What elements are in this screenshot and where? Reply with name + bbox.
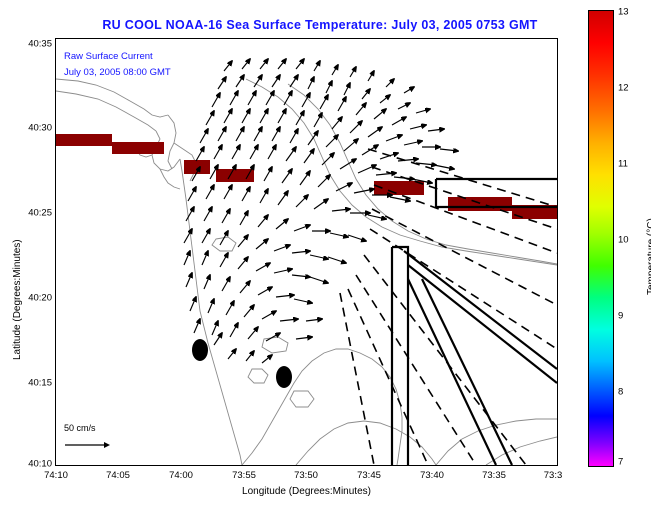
xtick-2: 74:00 xyxy=(169,470,193,481)
xtick-6: 73:40 xyxy=(420,470,444,481)
ytick-2: 40:25 xyxy=(14,208,52,219)
ytick-1: 40:30 xyxy=(14,123,52,134)
xtick-0: 74:10 xyxy=(44,470,68,481)
cbtick-6: 7 xyxy=(618,457,623,468)
ytick-5: 40:10 xyxy=(14,459,52,470)
xtick-7: 73:35 xyxy=(482,470,506,481)
radar-beam-lines-dashed xyxy=(340,149,557,465)
colorbar xyxy=(588,10,614,467)
surface-current-vectors xyxy=(184,59,458,363)
xtick-4: 73:50 xyxy=(294,470,318,481)
cbtick-0: 13 xyxy=(618,7,629,18)
chart-title: RU COOL NOAA-16 Sea Surface Temperature:… xyxy=(70,18,570,32)
map-svg xyxy=(56,39,557,465)
scalebar-label: 50 cm/s xyxy=(64,423,96,433)
annotation-timestamp: July 03, 2005 08:00 GMT xyxy=(64,67,171,78)
cbtick-5: 8 xyxy=(618,387,623,398)
y-axis-label: Latitude (Degrees:Minutes) xyxy=(12,239,23,360)
coastline-and-bathymetry xyxy=(56,79,557,465)
ytick-0: 40:35 xyxy=(14,39,52,50)
annotation-raw-surface-current: Raw Surface Current xyxy=(64,51,153,62)
colorbar-label: Temperature (°C) xyxy=(646,218,651,295)
black-marker-blobs xyxy=(192,339,292,388)
x-axis-label: Longitude (Degrees:Minutes) xyxy=(55,486,558,497)
xtick-3: 73:55 xyxy=(232,470,256,481)
xtick-8: 73:3 xyxy=(544,470,563,481)
xtick-5: 73:45 xyxy=(357,470,381,481)
xtick-1: 74:05 xyxy=(106,470,130,481)
cbtick-1: 12 xyxy=(618,83,629,94)
cbtick-2: 11 xyxy=(618,159,628,170)
ytick-4: 40:15 xyxy=(14,378,52,389)
map-plot-area: Raw Surface Current July 03, 2005 08:00 … xyxy=(55,38,558,466)
cbtick-3: 10 xyxy=(618,235,629,246)
scalebar-arrow-icon xyxy=(64,439,114,451)
cbtick-4: 9 xyxy=(618,311,623,322)
